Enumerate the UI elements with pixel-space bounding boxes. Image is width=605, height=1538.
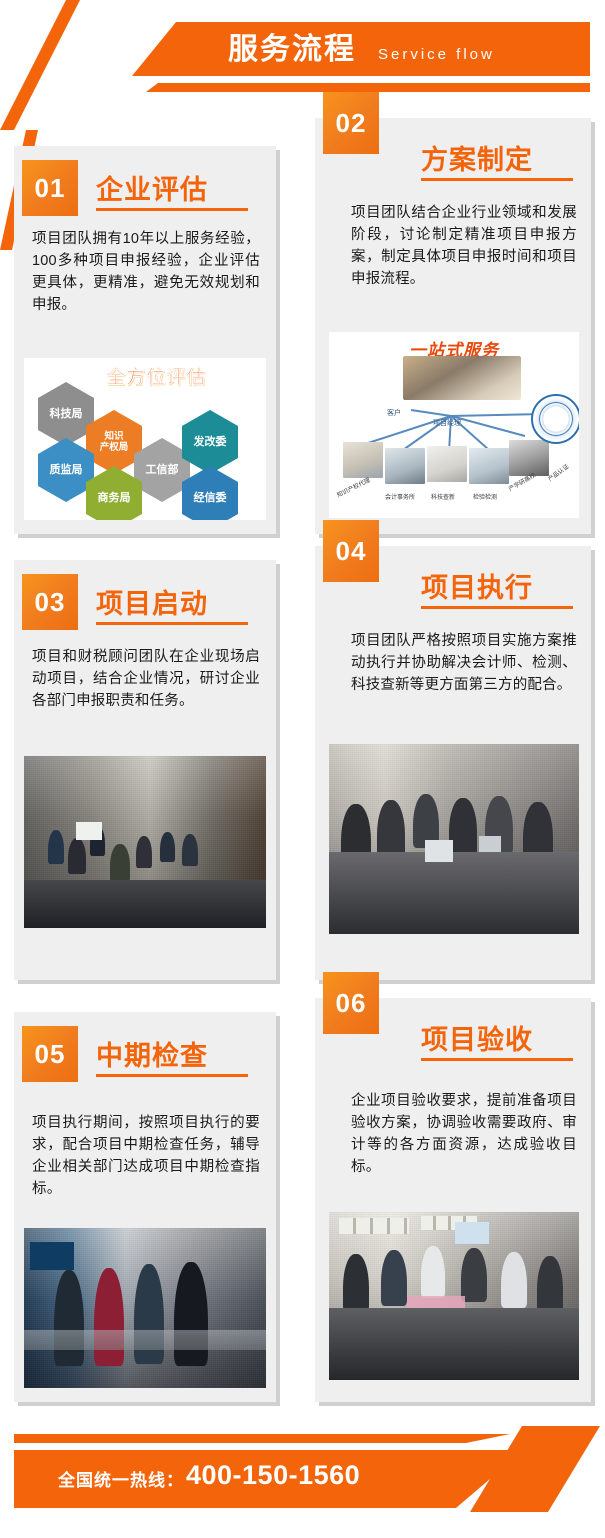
hex-node-zhishichanquan: 知识产权局 bbox=[86, 410, 142, 474]
one-stop-service-diagram: 一站式服务 客户 项目经理 知识产权代理 会计事务所 科技查新 检验检测 产学研… bbox=[329, 332, 579, 518]
card-title-underline bbox=[421, 606, 573, 609]
one-stop-iso-seal bbox=[531, 394, 579, 444]
header-diagonal-accent bbox=[0, 0, 80, 130]
all-round-assessment-diagram: 全方位评估 科技局 知识产权局 质监局 工信部 商务局 发改委 经信委 bbox=[24, 358, 266, 520]
card-title: 项目启动 bbox=[96, 582, 208, 621]
one-stop-caption-2: 会计事务所 bbox=[385, 492, 415, 501]
process-card-03[interactable]: 03 项目启动 项目和财税顾问团队在企业现场启动项目，结合企业情况，研讨企业各部… bbox=[14, 560, 276, 980]
footer-banner: 全国统一热线： 400-150-1560 bbox=[0, 1424, 605, 1524]
card-title: 企业评估 bbox=[96, 168, 208, 207]
process-card-06[interactable]: 06 项目验收 企业项目验收要求，提前准备项目验收方案，协调验收需要政府、审计等… bbox=[315, 998, 591, 1402]
header-title-english: Service flow bbox=[378, 42, 495, 68]
card-title-underline bbox=[96, 1074, 248, 1077]
hex-node-keji: 科技局 bbox=[38, 382, 94, 446]
card-number-badge: 03 bbox=[22, 574, 78, 630]
card-photo-meeting-room bbox=[24, 756, 266, 928]
process-card-01[interactable]: 01 企业评估 项目团队拥有10年以上服务经验，100多种项目申报经验，企业评估… bbox=[14, 146, 276, 534]
card-photo-boardroom bbox=[329, 1212, 579, 1380]
one-stop-thumb-1 bbox=[343, 442, 383, 478]
hex-node-zhijianju: 质监局 bbox=[38, 438, 94, 502]
card-title-underline bbox=[421, 178, 573, 181]
card-number-badge: 02 bbox=[323, 92, 379, 154]
hex-node-fagaiwei: 发改委 bbox=[182, 410, 238, 474]
one-stop-thumb-3 bbox=[427, 446, 467, 482]
card-body-text: 项目和财税顾问团队在企业现场启动项目，结合企业情况，研讨企业各部门申报职责和任务… bbox=[32, 646, 260, 712]
card-title: 项目验收 bbox=[421, 1018, 533, 1057]
hex-diagram-headline: 全方位评估 bbox=[106, 362, 206, 389]
footer-hotline-number[interactable]: 400-150-1560 bbox=[186, 1460, 360, 1491]
one-stop-caption-4: 检验检测 bbox=[473, 492, 497, 501]
card-body-text: 项目团队拥有10年以上服务经验，100多种项目申报经验，企业评估更具体，更精准，… bbox=[32, 228, 260, 316]
one-stop-caption-3: 科技查新 bbox=[431, 492, 455, 501]
card-body-text: 项目执行期间，按照项目执行的要求，配合项目中期检查任务，辅导企业相关部门达成项目… bbox=[32, 1112, 260, 1200]
card-photo-conference-table bbox=[329, 744, 579, 934]
card-number-badge: 01 bbox=[22, 160, 78, 216]
card-title-underline bbox=[96, 208, 248, 211]
footer-hotline-label: 全国统一热线： bbox=[58, 1466, 184, 1491]
process-card-04[interactable]: 04 项目执行 项目团队严格按照项目实施方案推动执行并协助解决会计师、检测、科技… bbox=[315, 546, 591, 980]
hex-node-gongxinbu: 工信部 bbox=[134, 438, 190, 502]
header-title-chinese: 服务流程 bbox=[228, 30, 356, 70]
card-title: 项目执行 bbox=[421, 566, 533, 605]
card-number-badge: 06 bbox=[323, 972, 379, 1034]
hex-node-shangwuju: 商务局 bbox=[86, 466, 142, 520]
process-card-05[interactable]: 05 中期检查 项目执行期间，按照项目执行的要求，配合项目中期检查任务，辅导企业… bbox=[14, 1012, 276, 1402]
one-stop-thumb-5 bbox=[509, 440, 549, 476]
card-number-badge: 05 bbox=[22, 1026, 78, 1082]
card-title-underline bbox=[421, 1058, 573, 1061]
one-stop-thumb-2 bbox=[385, 448, 425, 484]
footer-bar-thin bbox=[14, 1434, 510, 1443]
card-photo-lobby-visit bbox=[24, 1228, 266, 1388]
card-body-text: 企业项目验收要求，提前准备项目验收方案，协调验收需要政府、审计等的各方面资源，达… bbox=[351, 1090, 577, 1178]
process-card-02[interactable]: 02 方案制定 项目团队结合企业行业领域和发展阶段，讨论制定精准项目申报方案，制… bbox=[315, 118, 591, 534]
card-body-text: 项目团队结合企业行业领域和发展阶段，讨论制定精准项目申报方案，制定具体项目申报时… bbox=[351, 202, 577, 290]
one-stop-thumb-4 bbox=[469, 448, 509, 484]
card-body-text: 项目团队严格按照项目实施方案推动执行并协助解决会计师、检测、科技查新等更方面第三… bbox=[351, 630, 577, 696]
header-banner: 服务流程 Service flow bbox=[0, 0, 605, 110]
hex-node-jingxinwei: 经信委 bbox=[182, 466, 238, 520]
card-title-underline bbox=[96, 622, 248, 625]
header-bar-main bbox=[132, 22, 590, 76]
card-number-badge: 04 bbox=[323, 520, 379, 582]
card-title: 方案制定 bbox=[421, 138, 533, 177]
header-bar-thin bbox=[146, 83, 590, 92]
card-title: 中期检查 bbox=[96, 1034, 208, 1073]
